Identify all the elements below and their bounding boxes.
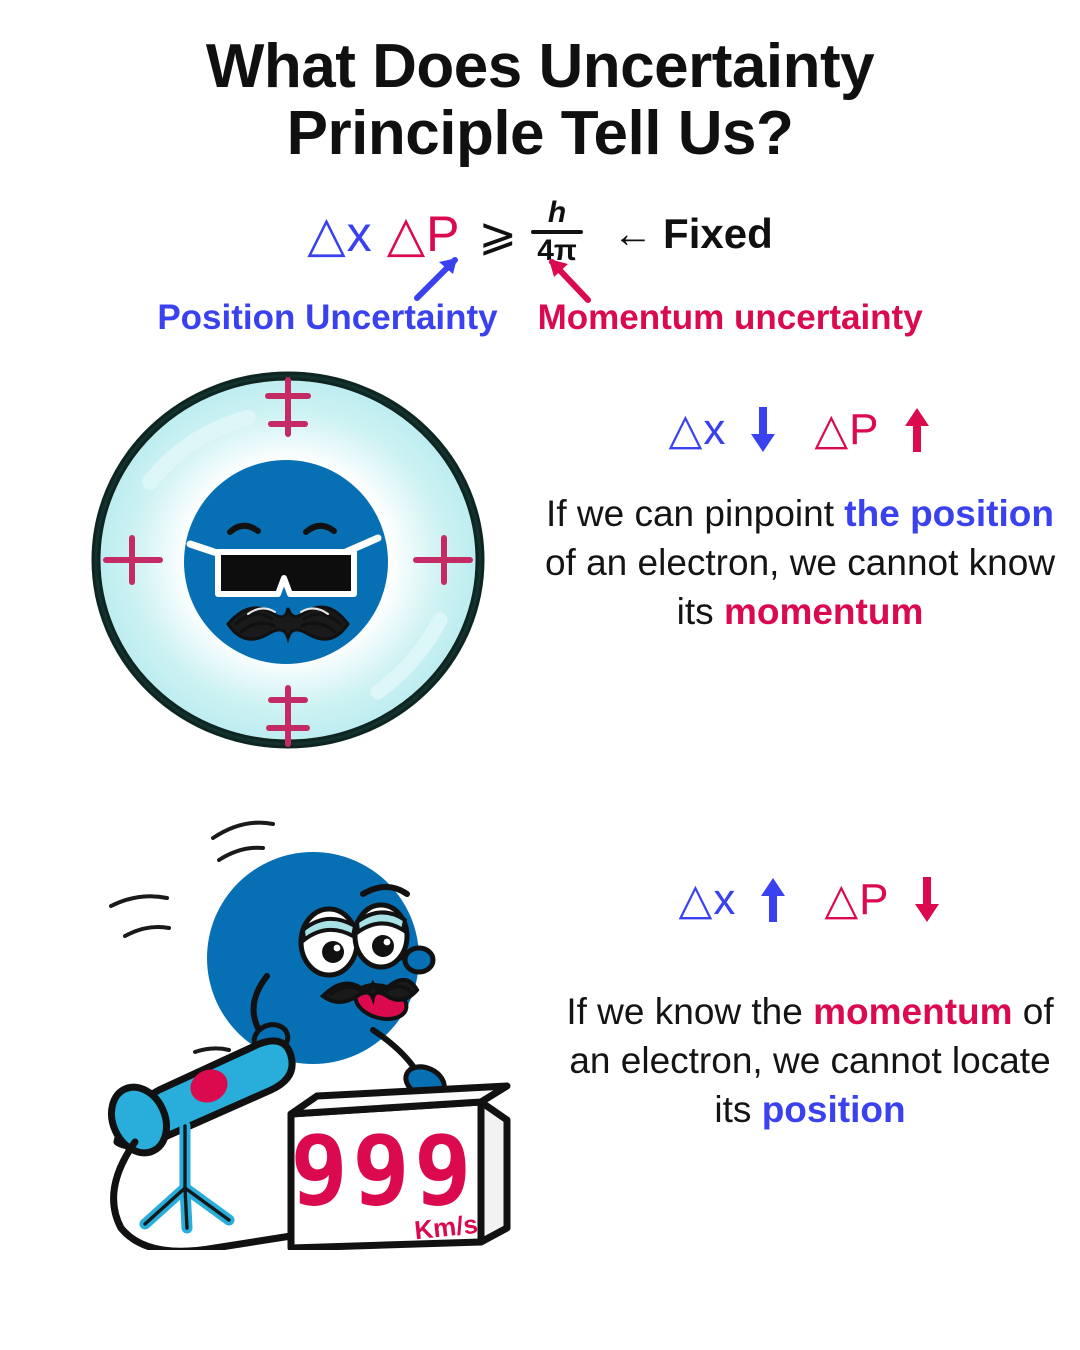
p2-part-0: If we know the	[566, 991, 813, 1032]
panel-2-copy: △x △P If we know the momentum of an elec…	[560, 790, 1060, 1260]
mustache-icon	[228, 607, 348, 639]
panel-know-momentum: 999 Km/s △x △P If we know the momentum o…	[0, 790, 1080, 1260]
p2-part-3: position	[762, 1089, 906, 1130]
sunglasses-icon	[218, 552, 354, 594]
p1-part-0: If we can pinpoint	[546, 493, 844, 534]
legend-position-label: Position Uncertainty	[157, 298, 497, 338]
panel-2-illustration: 999 Km/s	[0, 790, 560, 1260]
speed-display-icon: 999 Km/s	[290, 1086, 507, 1248]
panel-1-delta-x: △x	[668, 404, 726, 455]
title-line-1: What Does Uncertainty	[206, 32, 874, 101]
panel-1-delta-row: △x △P	[540, 404, 1060, 455]
legend-momentum-label: Momentum uncertainty	[538, 298, 923, 338]
speed-reading: 999	[290, 1115, 475, 1227]
pointer-arrow-position-icon	[413, 250, 469, 302]
arrow-down-icon	[748, 405, 778, 455]
fixed-annotation: ← Fixed	[613, 210, 773, 258]
crosshair-scope-with-electron-icon	[78, 362, 498, 762]
panel-1-paragraph: If we can pinpoint the position of an el…	[540, 489, 1060, 637]
infographic-page: What Does Uncertainty Principle Tell Us?…	[0, 0, 1080, 1350]
page-title: What Does Uncertainty Principle Tell Us?	[0, 34, 1080, 168]
pointer-arrow-momentum-icon	[538, 252, 594, 304]
p1-part-1: the position	[844, 493, 1054, 534]
fraction-numerator: h	[542, 198, 572, 230]
arrow-up-icon	[902, 405, 932, 455]
panel-1-illustration	[0, 362, 540, 772]
arrow-left-icon: ←	[613, 214, 653, 254]
arrow-down-icon	[912, 875, 942, 925]
panel-2-paragraph: If we know the momentum of an electron, …	[560, 987, 1060, 1135]
running-electron-with-speed-gun-icon: 999 Km/s	[95, 790, 545, 1250]
arrow-up-icon	[758, 875, 788, 925]
p2-part-1: momentum	[813, 991, 1012, 1032]
p1-part-3: momentum	[724, 591, 923, 632]
panel-2-delta-p: △P	[824, 874, 889, 925]
formula-delta-x: △x	[307, 205, 372, 263]
title-line-2: Principle Tell Us?	[0, 101, 1080, 168]
fixed-label: Fixed	[663, 210, 773, 258]
panel-pinpoint-position: △x △P If we can pinpoint the position of…	[0, 362, 1080, 772]
panel-1-delta-p: △P	[814, 404, 879, 455]
panel-2-delta-row: △x △P	[560, 874, 1060, 925]
panel-1-copy: △x △P If we can pinpoint the position of…	[540, 362, 1060, 772]
formula-relation: ⩾	[479, 207, 518, 261]
speed-gun-icon	[101, 1041, 292, 1250]
legend-row: Position Uncertainty Momentum uncertaint…	[0, 298, 1080, 338]
panel-2-delta-x: △x	[678, 874, 736, 925]
